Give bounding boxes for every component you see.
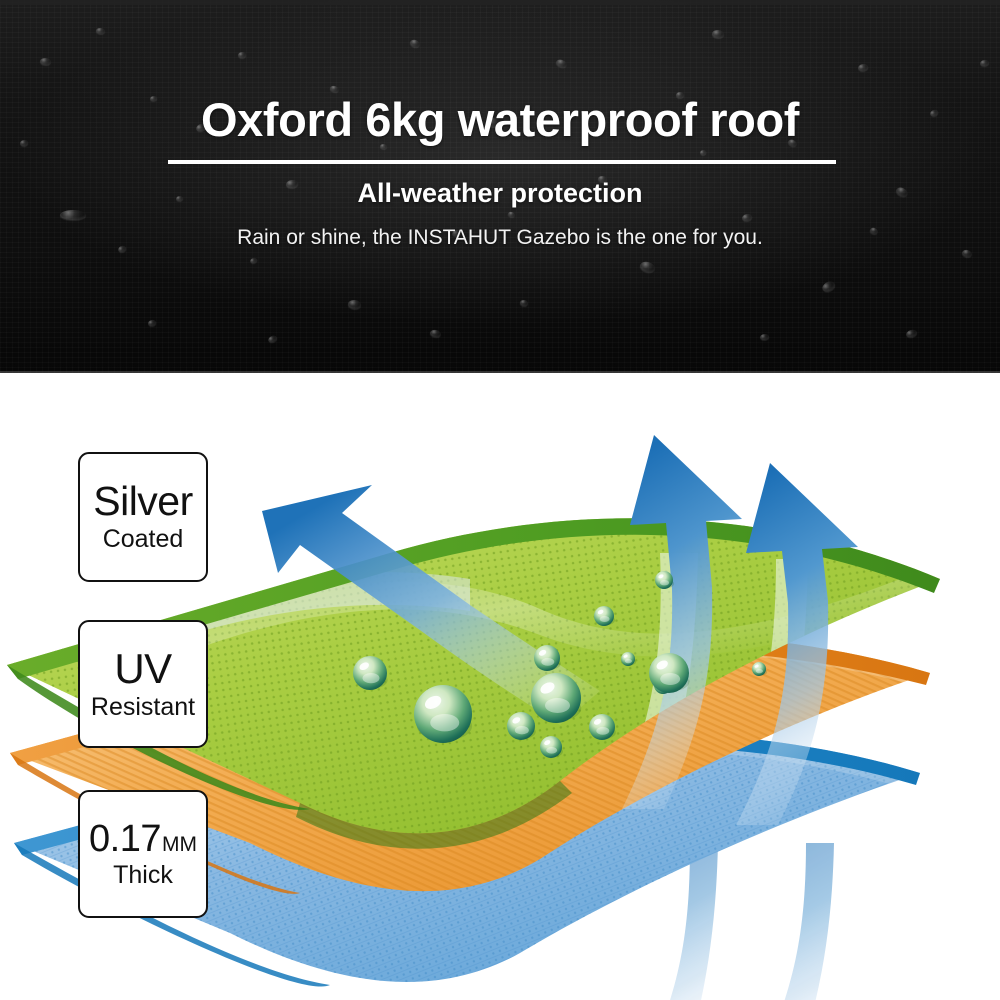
badge-thickness: 0.17MM Thick [78, 790, 208, 918]
product-infographic: Oxford 6kg waterproof roof All-weather p… [0, 0, 1000, 1000]
badge-uv-main-text: UV [114, 648, 171, 690]
badge-uv-sub: Resistant [91, 694, 195, 720]
badge-silver-main-text: Silver [93, 481, 193, 522]
badge-uv-main: UV [114, 648, 171, 690]
badge-uv-resistant: UV Resistant [78, 620, 208, 748]
badge-silver-main: Silver [93, 481, 193, 522]
badge-silver-sub: Coated [103, 526, 184, 552]
badge-thickness-unit: MM [162, 834, 197, 855]
badge-thickness-sub: Thick [113, 862, 173, 888]
feature-badge-list: Silver Coated UV Resistant 0.17MM Thick [0, 0, 1000, 1000]
badge-thickness-main: 0.17MM [89, 820, 197, 858]
badge-silver-coated: Silver Coated [78, 452, 208, 582]
badge-thickness-value: 0.17 [89, 820, 161, 858]
